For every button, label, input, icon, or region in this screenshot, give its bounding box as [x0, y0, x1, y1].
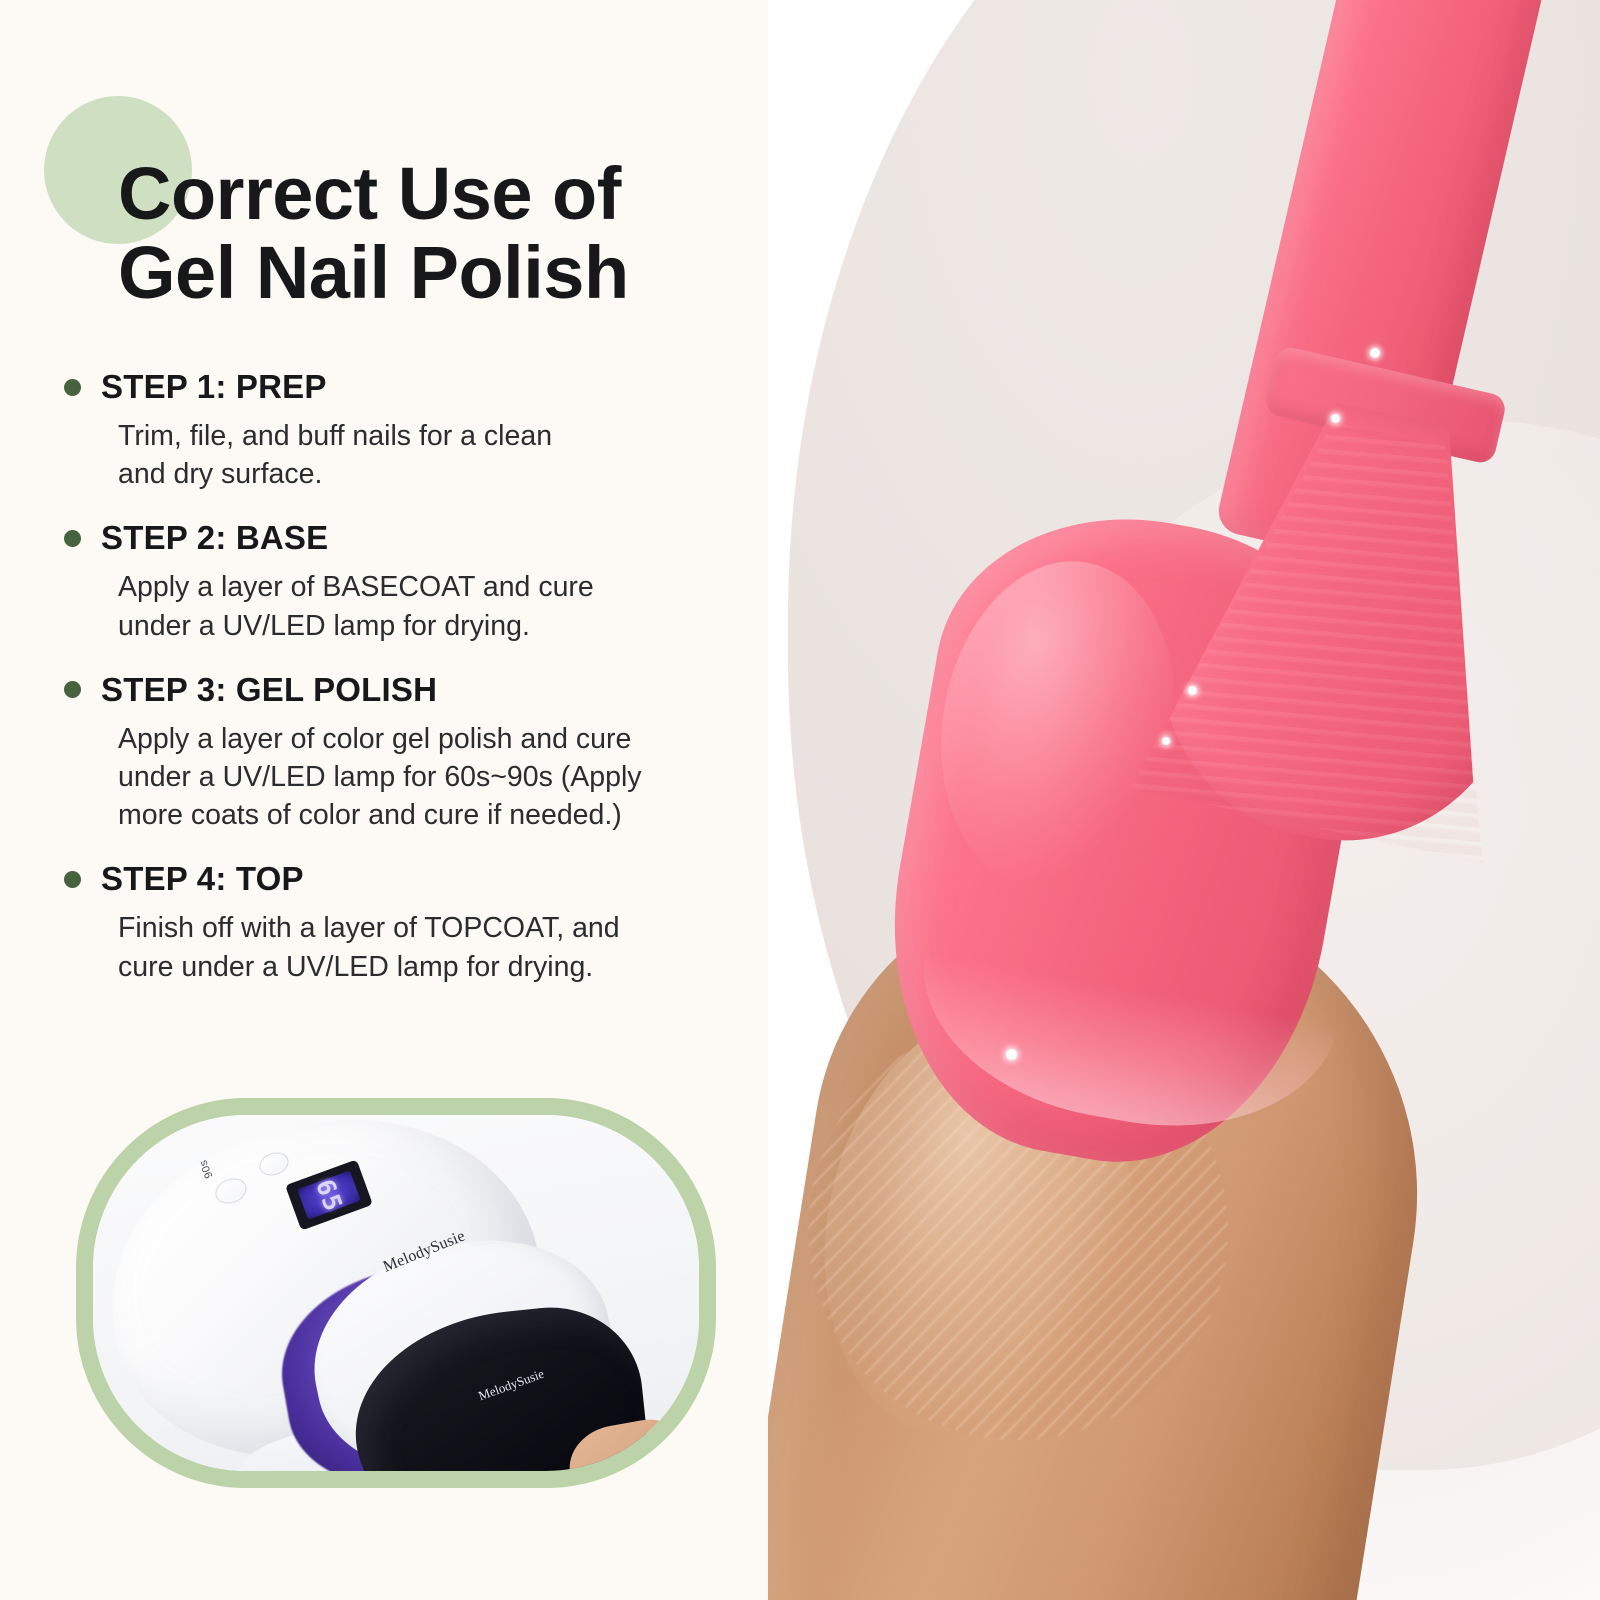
gel-polish-application-photo — [768, 0, 1600, 1600]
infographic-canvas: Correct Use of Gel Nail Polish STEP 1: P… — [0, 0, 1600, 1600]
timer-display-screen: 65 — [297, 1170, 361, 1219]
step-4-header: STEP 4: TOP — [64, 860, 764, 898]
step-2-header: STEP 2: BASE — [64, 519, 764, 557]
highlight-dot — [1188, 686, 1197, 695]
page-title-line-2: Gel Nail Polish — [118, 233, 798, 313]
timer-display-value: 65 — [310, 1175, 348, 1215]
step-1-description: Trim, file, and buff nails for a clean a… — [118, 417, 764, 493]
steps-list: STEP 1: PREP Trim, file, and buff nails … — [64, 368, 764, 1012]
page-title: Correct Use of Gel Nail Polish — [118, 154, 798, 314]
step-3-description: Apply a layer of color gel polish and cu… — [118, 720, 764, 835]
page-title-line-1: Correct Use of — [118, 154, 798, 234]
step-3-header: STEP 3: GEL POLISH — [64, 671, 764, 709]
highlight-dot — [1162, 737, 1170, 745]
bullet-icon — [64, 379, 81, 396]
step-4-title: STEP 4: TOP — [101, 860, 304, 898]
list-item: STEP 3: GEL POLISH Apply a layer of colo… — [64, 671, 764, 835]
step-2-title: STEP 2: BASE — [101, 519, 328, 557]
step-1-title: STEP 1: PREP — [101, 368, 327, 406]
step-1-header: STEP 1: PREP — [64, 368, 764, 406]
list-item: STEP 2: BASE Apply a layer of BASECOAT a… — [64, 519, 764, 644]
uv-led-lamp-card: 65 90s MelodySusie MelodySusie — [76, 1098, 716, 1488]
list-item: STEP 4: TOP Finish off with a layer of T… — [64, 860, 764, 985]
step-3-title: STEP 3: GEL POLISH — [101, 671, 437, 709]
list-item: STEP 1: PREP Trim, file, and buff nails … — [64, 368, 764, 493]
step-4-description: Finish off with a layer of TOPCOAT, and … — [118, 909, 764, 985]
uv-lamp-photo: 65 90s MelodySusie MelodySusie — [93, 1115, 699, 1471]
bullet-icon — [64, 681, 81, 698]
step-2-description: Apply a layer of BASECOAT and cure under… — [118, 568, 764, 644]
highlight-dot — [1331, 414, 1340, 423]
highlight-dot — [1006, 1049, 1017, 1060]
highlight-dot — [1370, 348, 1380, 358]
bullet-icon — [64, 871, 81, 888]
bullet-icon — [64, 530, 81, 547]
